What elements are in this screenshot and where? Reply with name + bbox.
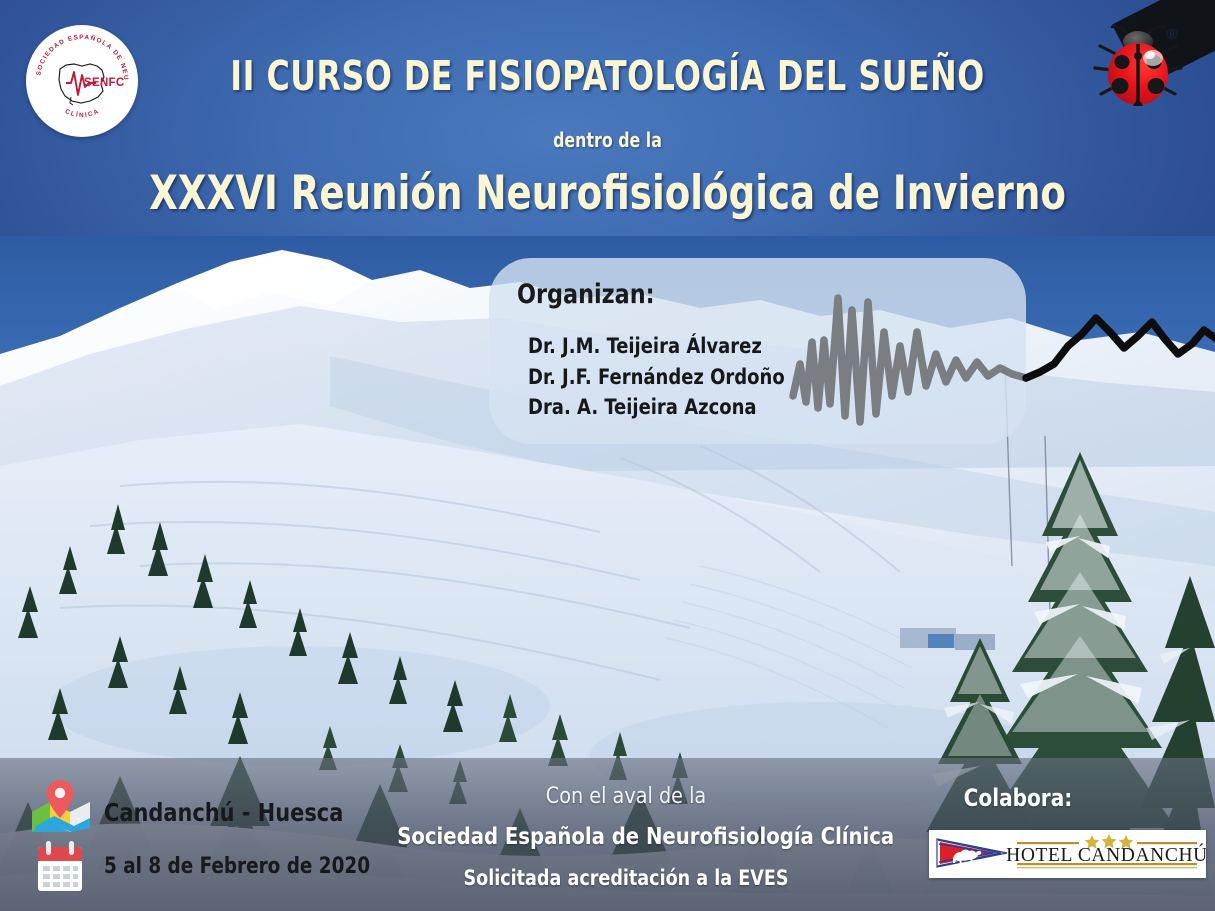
event-poster: SOCIEDAD ESPAÑOLA DE NEUROFISIOLOGÍA CLÍ… [0,0,1215,911]
registered-trademark-symbol: ® [1166,26,1178,44]
sponsor-logo-hotel-candanchu: HOTEL CANDANCHÚ [929,830,1206,878]
location-text: Candanchú - Huesca [104,798,343,827]
endorsement-line-1: Con el aval de la [392,783,859,809]
organizer-3: Dra. A. Teijeira Azcona [528,393,785,424]
organizer-1: Dr. J.M. Teijeira Álvarez [528,332,785,363]
calendar-icon [36,841,84,893]
dates-text: 5 al 8 de Febrero de 2020 [104,854,370,879]
sponsor-name: HOTEL CANDANCHÚ [1006,844,1206,866]
organizers-heading: Organizan: [517,279,655,310]
organizer-2: Dr. J.F. Fernández Ordoño [528,363,785,394]
poster-subtitle: XXXVI Reunión Neurofisiológica de Invier… [73,166,1142,221]
collaborator-label: Colabora: [910,784,1126,812]
map-pin-icon [30,780,92,832]
endorsement-line-2: Sociedad Española de Neurofisiología Clí… [397,822,855,850]
poster-title-connector: dentro de la [73,128,1142,152]
endorsement-line-3: Solicitada acreditación a la EVES [397,866,855,890]
organizers-list: Dr. J.M. Teijeira Álvarez Dr. J.F. Ferná… [528,332,785,424]
poster-main-title: II CURSO DE FISIOPATOLOGÍA DEL SUEÑO [85,52,1130,100]
